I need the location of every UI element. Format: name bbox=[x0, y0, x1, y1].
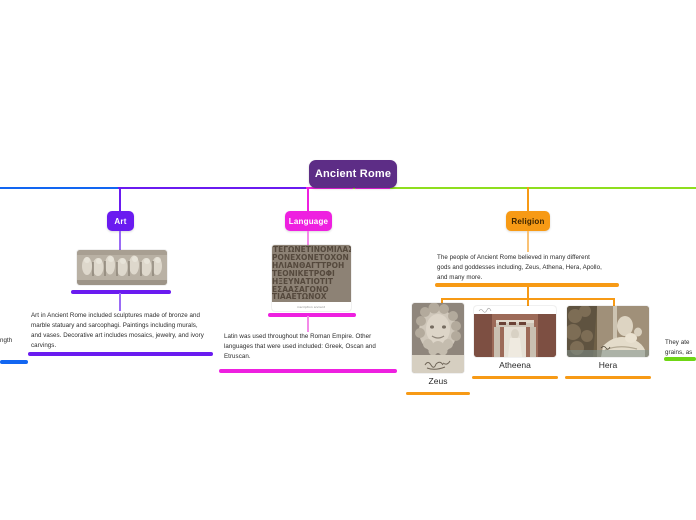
hera-caption: Hera bbox=[567, 360, 649, 370]
topic-node-art-label: Art bbox=[114, 217, 126, 226]
atheena-connector bbox=[527, 298, 529, 306]
language-body-text: Latin was used throughout the Roman Empi… bbox=[224, 332, 396, 362]
trunk-segment-green bbox=[390, 187, 696, 189]
topic-node-art[interactable]: Art bbox=[107, 211, 134, 231]
offscreen-left-text: ngth bbox=[0, 336, 30, 346]
svg-text:inscription ancient: inscription ancient bbox=[297, 305, 326, 309]
roman-relief-sculpture-image[interactable] bbox=[77, 250, 167, 285]
hera-underline bbox=[565, 376, 651, 379]
zeus-underline bbox=[406, 392, 470, 395]
language-branch-drop bbox=[307, 187, 309, 211]
topic-node-religion-label: Religion bbox=[511, 217, 544, 226]
trunk-segment-blue bbox=[0, 187, 120, 189]
art-branch-drop bbox=[119, 187, 121, 211]
zeus-bust-image[interactable] bbox=[412, 303, 464, 373]
hera-connector bbox=[613, 298, 615, 306]
topic-node-religion[interactable]: Religion bbox=[506, 211, 550, 231]
root-node-ancient-rome[interactable]: Ancient Rome bbox=[309, 160, 397, 188]
atheena-caption: Atheena bbox=[474, 360, 556, 370]
art-body-text: Art in Ancient Rome included sculptures … bbox=[31, 311, 209, 351]
trunk-segment-purple bbox=[118, 187, 308, 189]
art-image-to-text-connector bbox=[119, 293, 121, 311]
language-node-to-image-connector bbox=[307, 231, 309, 245]
offscreen-right-underline bbox=[664, 357, 696, 361]
art-text-underline bbox=[28, 352, 213, 356]
topic-node-language-label: Language bbox=[289, 217, 328, 226]
art-node-to-image-connector bbox=[119, 231, 121, 250]
zeus-caption: Zeus bbox=[412, 376, 464, 386]
language-text-underline bbox=[219, 369, 397, 373]
offscreen-left-underline bbox=[0, 360, 28, 364]
topic-node-language[interactable]: Language bbox=[285, 211, 332, 231]
athena-statue-image[interactable] bbox=[474, 306, 556, 357]
language-image-underline bbox=[268, 313, 356, 317]
language-image-to-text-connector bbox=[307, 316, 309, 332]
art-image-underline bbox=[71, 290, 171, 294]
root-node-label: Ancient Rome bbox=[315, 168, 391, 180]
religion-body-text: The people of Ancient Rome believed in m… bbox=[437, 253, 605, 283]
hera-statue-image[interactable] bbox=[567, 306, 649, 357]
religion-branch-drop bbox=[527, 187, 529, 211]
ancient-greek-inscription-image[interactable]: ΤΕΓΩΝΕΤΙΝΟΜΙΛΑΣ ΡΟΝΕΧΟΝΕΤΟΧΟΝ ΗΛΙΑΝΘΑΓΤΤ… bbox=[272, 245, 351, 311]
offscreen-right-text-line1: They ate bbox=[665, 338, 696, 348]
svg-text:ΤΙΑΑΕΤΩΝΟΧ: ΤΙΑΑΕΤΩΝΟΧ bbox=[272, 292, 327, 301]
mindmap-canvas[interactable]: Ancient Rome Art bbox=[0, 0, 696, 520]
atheena-underline bbox=[472, 376, 558, 379]
religion-node-to-text-connector bbox=[527, 231, 529, 252]
